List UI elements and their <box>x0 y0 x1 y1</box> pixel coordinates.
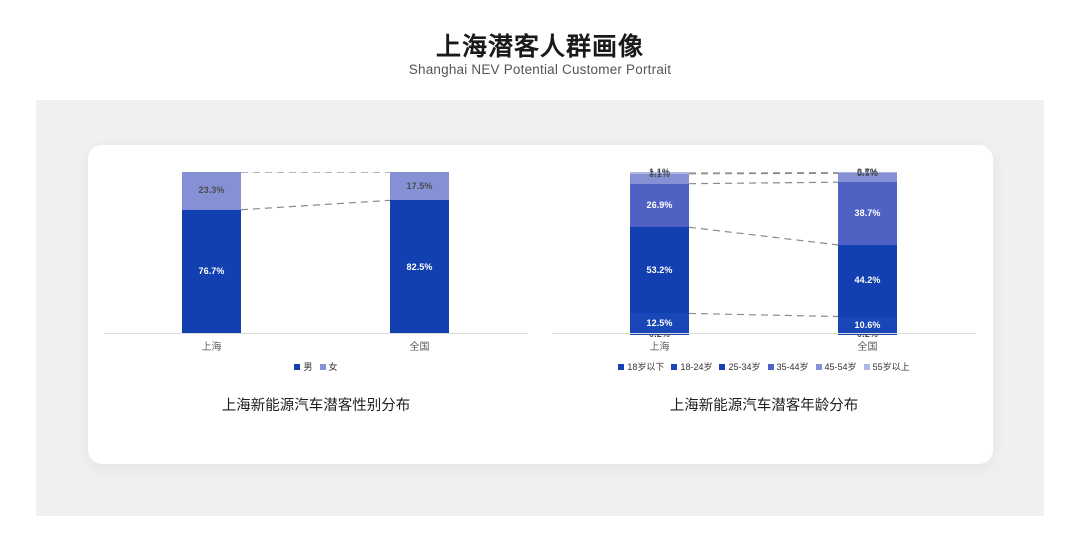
legend-label: 女 <box>329 360 338 373</box>
legend-swatch-icon <box>294 364 300 370</box>
category-label: 全国 <box>838 338 897 353</box>
legend-swatch-icon <box>618 364 624 370</box>
bar-segment[interactable]: 10.6% <box>838 317 897 334</box>
segment-value-label: 23.3% <box>198 186 224 195</box>
legend-swatch-icon <box>816 364 822 370</box>
legend-item[interactable]: 18岁以下 <box>618 360 664 373</box>
bar-segment[interactable]: 53.2% <box>630 227 689 313</box>
chart-caption: 上海新能源汽车潜客性别分布 <box>96 394 536 415</box>
page-title: 上海潜客人群画像 <box>0 27 1080 63</box>
legend-item[interactable]: 男 <box>294 360 312 373</box>
legend-label: 35-44岁 <box>777 360 809 373</box>
legend-item[interactable]: 45-54岁 <box>816 360 857 373</box>
bar-segment[interactable]: 12.5% <box>630 313 689 333</box>
category-labels: 上海全国 <box>96 338 536 356</box>
legend-item[interactable]: 25-34岁 <box>719 360 760 373</box>
legend-item[interactable]: 女 <box>320 360 338 373</box>
chart-age-distribution: 0.2%12.5%53.2%26.9%6.1%1.1%0.2%10.6%44.2… <box>544 172 984 422</box>
stacked-bar[interactable]: 0.2%10.6%44.2%38.7%5.5%0.7% <box>838 172 897 334</box>
stacked-bar[interactable]: 76.7%23.3% <box>182 172 241 334</box>
legend-swatch-icon <box>768 364 774 370</box>
legend-item[interactable]: 35-44岁 <box>768 360 809 373</box>
stacked-bar[interactable]: 0.2%12.5%53.2%26.9%6.1%1.1% <box>630 172 689 334</box>
bar-segment[interactable]: 0.7% <box>838 172 897 173</box>
segment-value-label: 0.7% <box>857 168 878 177</box>
segment-value-label: 17.5% <box>406 182 432 191</box>
legend-item[interactable]: 55岁以上 <box>864 360 910 373</box>
chart-caption: 上海新能源汽车潜客年龄分布 <box>544 394 984 415</box>
segment-value-label: 76.7% <box>198 267 224 276</box>
x-axis-line <box>104 333 528 334</box>
stacked-bar[interactable]: 82.5%17.5% <box>390 172 449 334</box>
slide-root: 上海潜客人群画像 Shanghai NEV Potential Customer… <box>0 0 1080 547</box>
bar-segment[interactable]: 17.5% <box>390 172 449 200</box>
connector-lines <box>96 172 536 334</box>
legend-label: 25-34岁 <box>728 360 760 373</box>
legend-swatch-icon <box>719 364 725 370</box>
legend-swatch-icon <box>320 364 326 370</box>
category-label: 上海 <box>630 338 689 353</box>
segment-value-label: 53.2% <box>646 266 672 275</box>
legend-item[interactable]: 18-24岁 <box>671 360 712 373</box>
bar-segment[interactable]: 44.2% <box>838 245 897 317</box>
chart-legend: 18岁以下18-24岁25-34岁35-44岁45-54岁55岁以上 <box>544 360 984 373</box>
legend-swatch-icon <box>864 364 870 370</box>
chart-legend: 男女 <box>96 360 536 373</box>
category-labels: 上海全国 <box>544 338 984 356</box>
bar-segment[interactable]: 82.5% <box>390 200 449 334</box>
page-subtitle: Shanghai NEV Potential Customer Portrait <box>0 62 1080 77</box>
plot-area: 76.7%23.3%82.5%17.5% <box>96 172 536 334</box>
category-label: 上海 <box>182 338 241 353</box>
legend-label: 18岁以下 <box>627 360 664 373</box>
legend-label: 18-24岁 <box>680 360 712 373</box>
segment-value-label: 10.6% <box>854 321 880 330</box>
segment-value-label: 1.1% <box>649 168 670 177</box>
legend-label: 男 <box>303 360 312 373</box>
bar-segment[interactable]: 38.7% <box>838 182 897 245</box>
bar-segment[interactable]: 26.9% <box>630 184 689 228</box>
category-label: 全国 <box>390 338 449 353</box>
segment-value-label: 12.5% <box>646 319 672 328</box>
plot-area: 0.2%12.5%53.2%26.9%6.1%1.1%0.2%10.6%44.2… <box>544 172 984 334</box>
x-axis-line <box>552 333 976 334</box>
connector-lines <box>544 172 984 334</box>
legend-label: 45-54岁 <box>825 360 857 373</box>
bar-segment[interactable]: 76.7% <box>182 210 241 334</box>
segment-value-label: 26.9% <box>646 201 672 210</box>
bar-segment[interactable]: 1.1% <box>630 172 689 174</box>
segment-value-label: 38.7% <box>854 209 880 218</box>
bar-segment[interactable]: 23.3% <box>182 172 241 210</box>
segment-value-label: 82.5% <box>406 263 432 272</box>
legend-label: 55岁以上 <box>873 360 910 373</box>
segment-value-label: 44.2% <box>854 276 880 285</box>
legend-swatch-icon <box>671 364 677 370</box>
chart-gender-distribution: 76.7%23.3%82.5%17.5%上海全国男女上海新能源汽车潜客性别分布 <box>96 172 536 422</box>
